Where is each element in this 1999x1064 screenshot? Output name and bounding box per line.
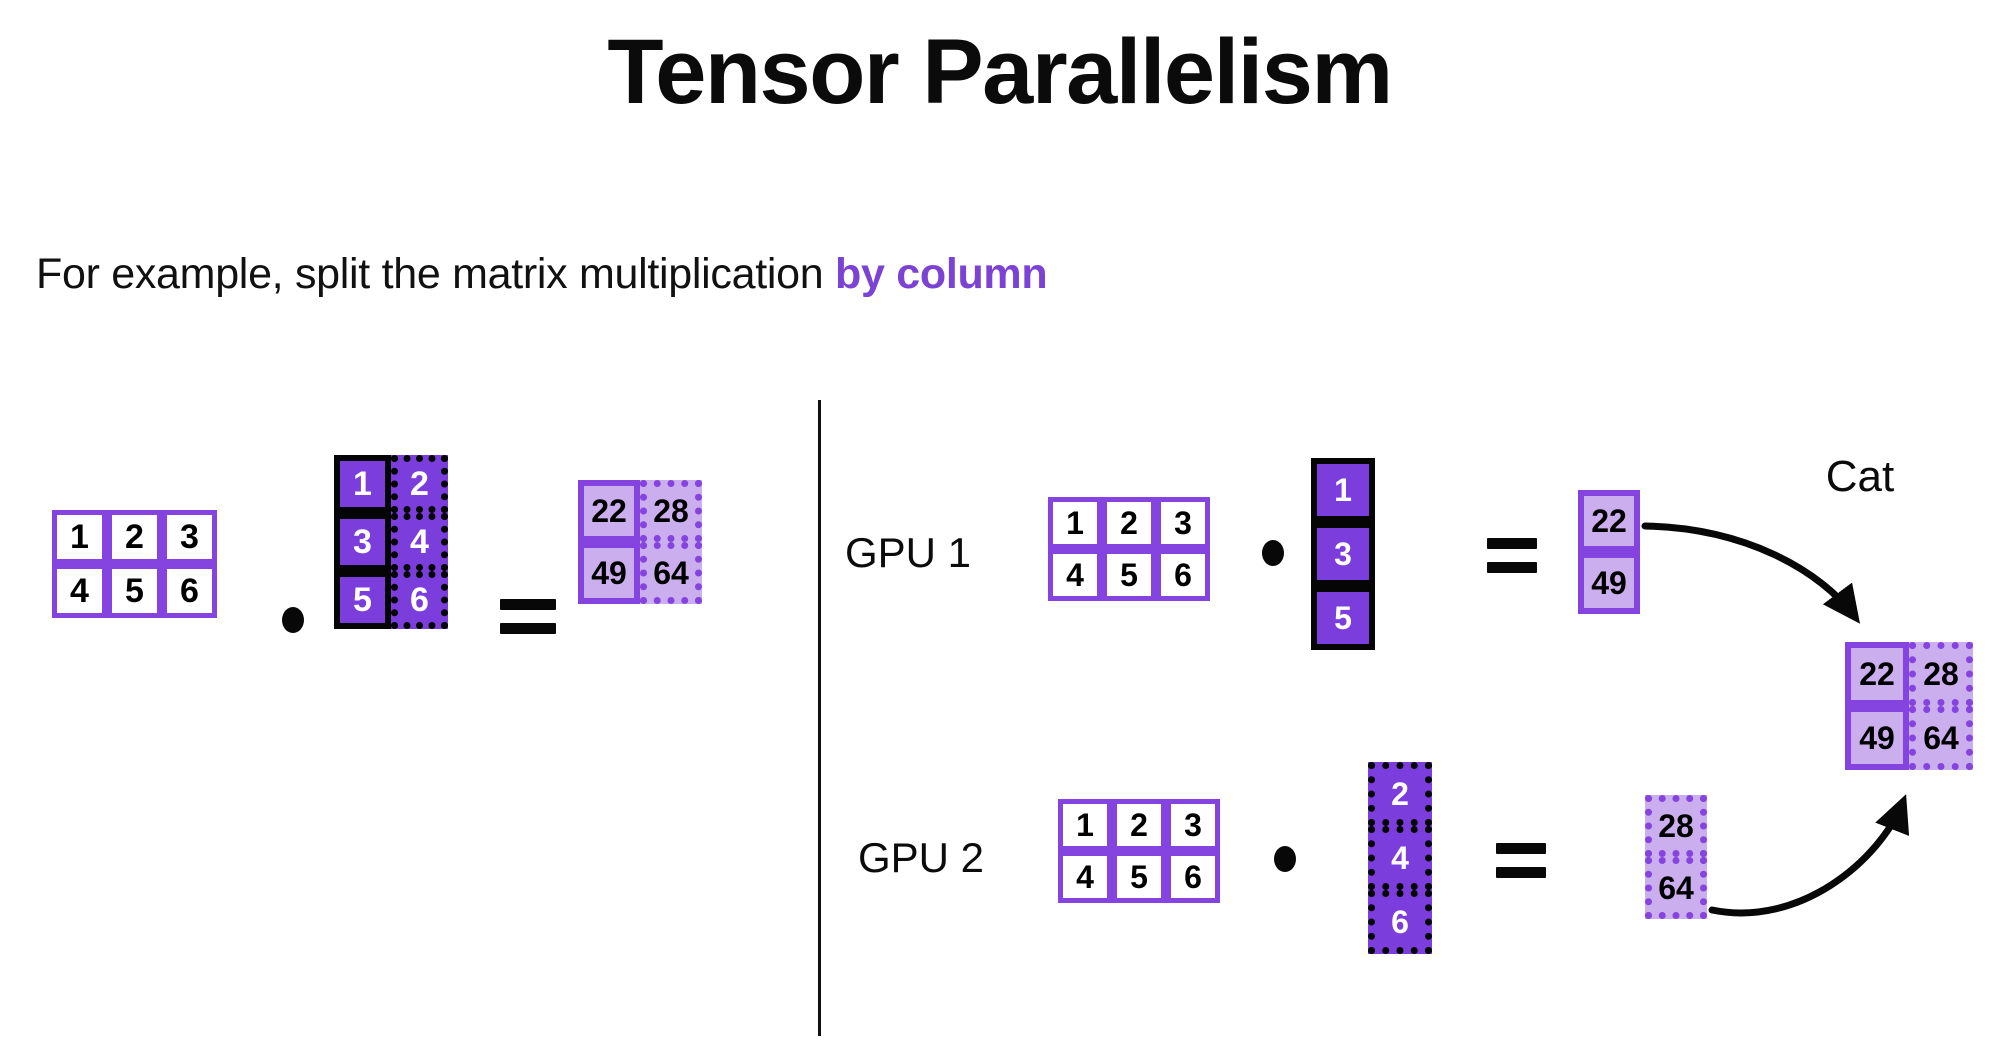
gpu2-result-vector: 28 64 — [1645, 795, 1707, 919]
matrix-cell: 3 — [334, 513, 391, 571]
matrix-cell: 6 — [391, 571, 448, 629]
matrix-cell: 2 — [1368, 762, 1432, 826]
matrix-cell: 2 — [391, 455, 448, 513]
matrix-cell: 1 — [52, 510, 107, 564]
subtitle-accent: by column — [835, 250, 1047, 298]
matrix-cell: 49 — [1578, 552, 1640, 614]
matrix-cell: 6 — [1156, 549, 1210, 601]
matrix-cell: 3 — [1166, 799, 1220, 851]
panel-divider — [818, 400, 821, 1036]
matrix-cell: 3 — [1156, 497, 1210, 549]
equals-operator-icon — [500, 599, 556, 634]
matrix-cell: 6 — [1368, 890, 1432, 954]
dot-operator-icon — [282, 607, 304, 633]
matrix-cell: 4 — [391, 513, 448, 571]
left-weight-matrix: 1 2 3 4 5 6 — [334, 455, 448, 629]
matrix-cell: 3 — [1311, 522, 1375, 586]
gpu2-activation-matrix: 1 2 3 4 5 6 — [1058, 799, 1220, 903]
gpu1-weight-vector: 1 3 5 — [1311, 458, 1375, 650]
concat-label: Cat — [1826, 452, 1894, 502]
page-title: Tensor Parallelism — [0, 22, 1999, 123]
matrix-cell: 4 — [52, 564, 107, 618]
matrix-cell: 22 — [1845, 642, 1909, 706]
matrix-cell: 3 — [162, 510, 217, 564]
matrix-cell: 5 — [334, 571, 391, 629]
matrix-cell: 22 — [578, 480, 640, 542]
left-activation-matrix: 1 2 3 4 5 6 — [52, 510, 217, 618]
equals-operator-icon — [1487, 538, 1537, 573]
subtitle: For example, split the matrix multiplica… — [36, 250, 1047, 299]
matrix-cell: 4 — [1048, 549, 1102, 601]
gpu2-to-concat-arrow — [1712, 802, 1903, 913]
matrix-cell: 5 — [1112, 851, 1166, 903]
matrix-cell: 5 — [1311, 586, 1375, 650]
concat-result-matrix: 22 28 49 64 — [1845, 642, 1973, 770]
matrix-cell: 49 — [578, 542, 640, 604]
gpu2-label: GPU 2 — [858, 834, 984, 882]
gpu2-weight-vector: 2 4 6 — [1368, 762, 1432, 954]
matrix-cell: 6 — [162, 564, 217, 618]
matrix-cell: 22 — [1578, 490, 1640, 552]
matrix-cell: 1 — [1048, 497, 1102, 549]
matrix-cell: 6 — [1166, 851, 1220, 903]
matrix-cell: 28 — [1645, 795, 1707, 857]
matrix-cell: 2 — [1112, 799, 1166, 851]
gpu1-to-concat-arrow — [1645, 526, 1855, 617]
subtitle-lead: For example, split the matrix multiplica… — [36, 250, 835, 298]
matrix-cell: 28 — [640, 480, 702, 542]
matrix-cell: 5 — [107, 564, 162, 618]
matrix-cell: 64 — [640, 542, 702, 604]
matrix-cell: 4 — [1368, 826, 1432, 890]
matrix-cell: 1 — [334, 455, 391, 513]
gpu1-label: GPU 1 — [845, 529, 971, 577]
matrix-cell: 2 — [1102, 497, 1156, 549]
matrix-cell: 5 — [1102, 549, 1156, 601]
gpu1-activation-matrix: 1 2 3 4 5 6 — [1048, 497, 1210, 601]
matrix-cell: 64 — [1645, 857, 1707, 919]
matrix-cell: 49 — [1845, 706, 1909, 770]
dot-operator-icon — [1274, 846, 1296, 872]
matrix-cell: 28 — [1909, 642, 1973, 706]
gpu1-result-vector: 22 49 — [1578, 490, 1640, 614]
matrix-cell: 1 — [1058, 799, 1112, 851]
dot-operator-icon — [1262, 540, 1284, 566]
left-result-matrix: 22 28 49 64 — [578, 480, 702, 604]
matrix-cell: 4 — [1058, 851, 1112, 903]
matrix-cell: 64 — [1909, 706, 1973, 770]
equals-operator-icon — [1496, 843, 1546, 878]
matrix-cell: 1 — [1311, 458, 1375, 522]
matrix-cell: 2 — [107, 510, 162, 564]
